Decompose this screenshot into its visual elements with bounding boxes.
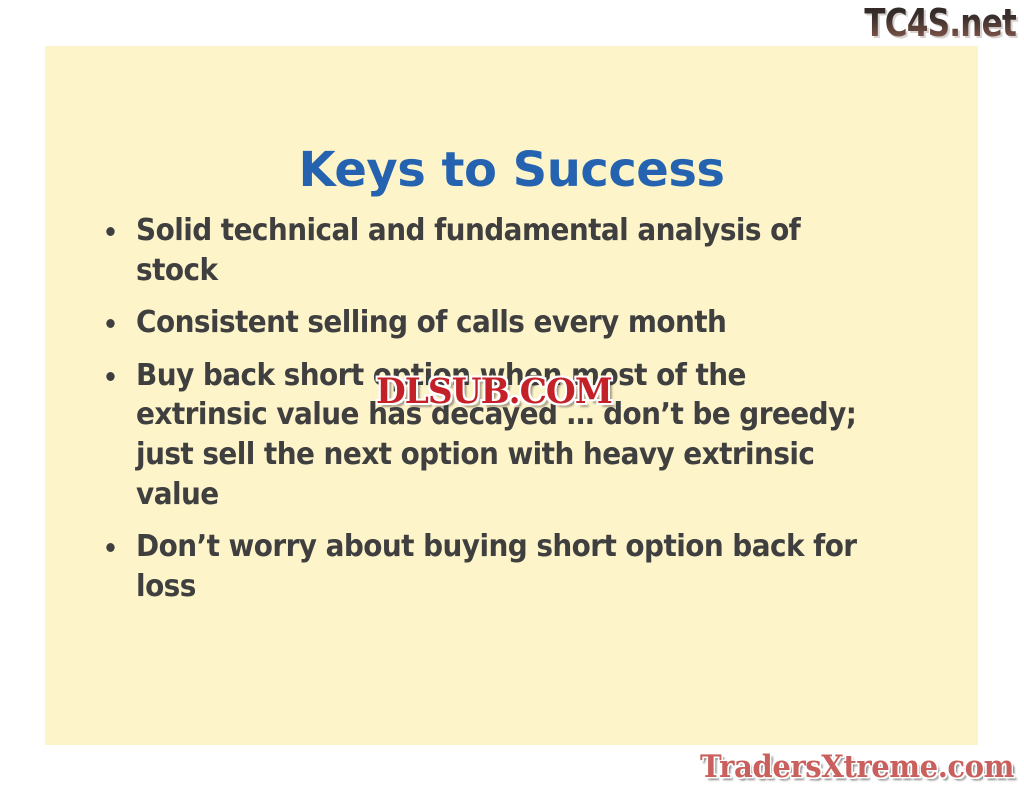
- bullet-item-text: Consistent selling of calls every month: [136, 305, 726, 340]
- bullet-marker-icon: [106, 319, 114, 328]
- tc4s-logo: TC4S.net: [864, 1, 1016, 45]
- bullet-item-text: Solid technical and fundamental analysis…: [136, 213, 800, 288]
- dlsub-overlay-watermark: DLSUB.COM: [376, 371, 612, 412]
- tradersxtreme-watermark: TradersXtreme.com: [700, 749, 1014, 785]
- bullet-marker-icon: [106, 372, 114, 381]
- bullet-item-text: Don’t worry about buying short option ba…: [136, 529, 856, 604]
- bullet-list: Solid technical and fundamental analysis…: [97, 211, 942, 619]
- bullet-item: Consistent selling of calls every month: [97, 303, 883, 343]
- bullet-marker-icon: [106, 227, 114, 236]
- bullet-item: Solid technical and fundamental analysis…: [97, 211, 883, 290]
- slide-title: Keys to Success: [45, 144, 978, 197]
- bullet-marker-icon: [106, 543, 114, 552]
- bullet-item: Don’t worry about buying short option ba…: [97, 527, 883, 606]
